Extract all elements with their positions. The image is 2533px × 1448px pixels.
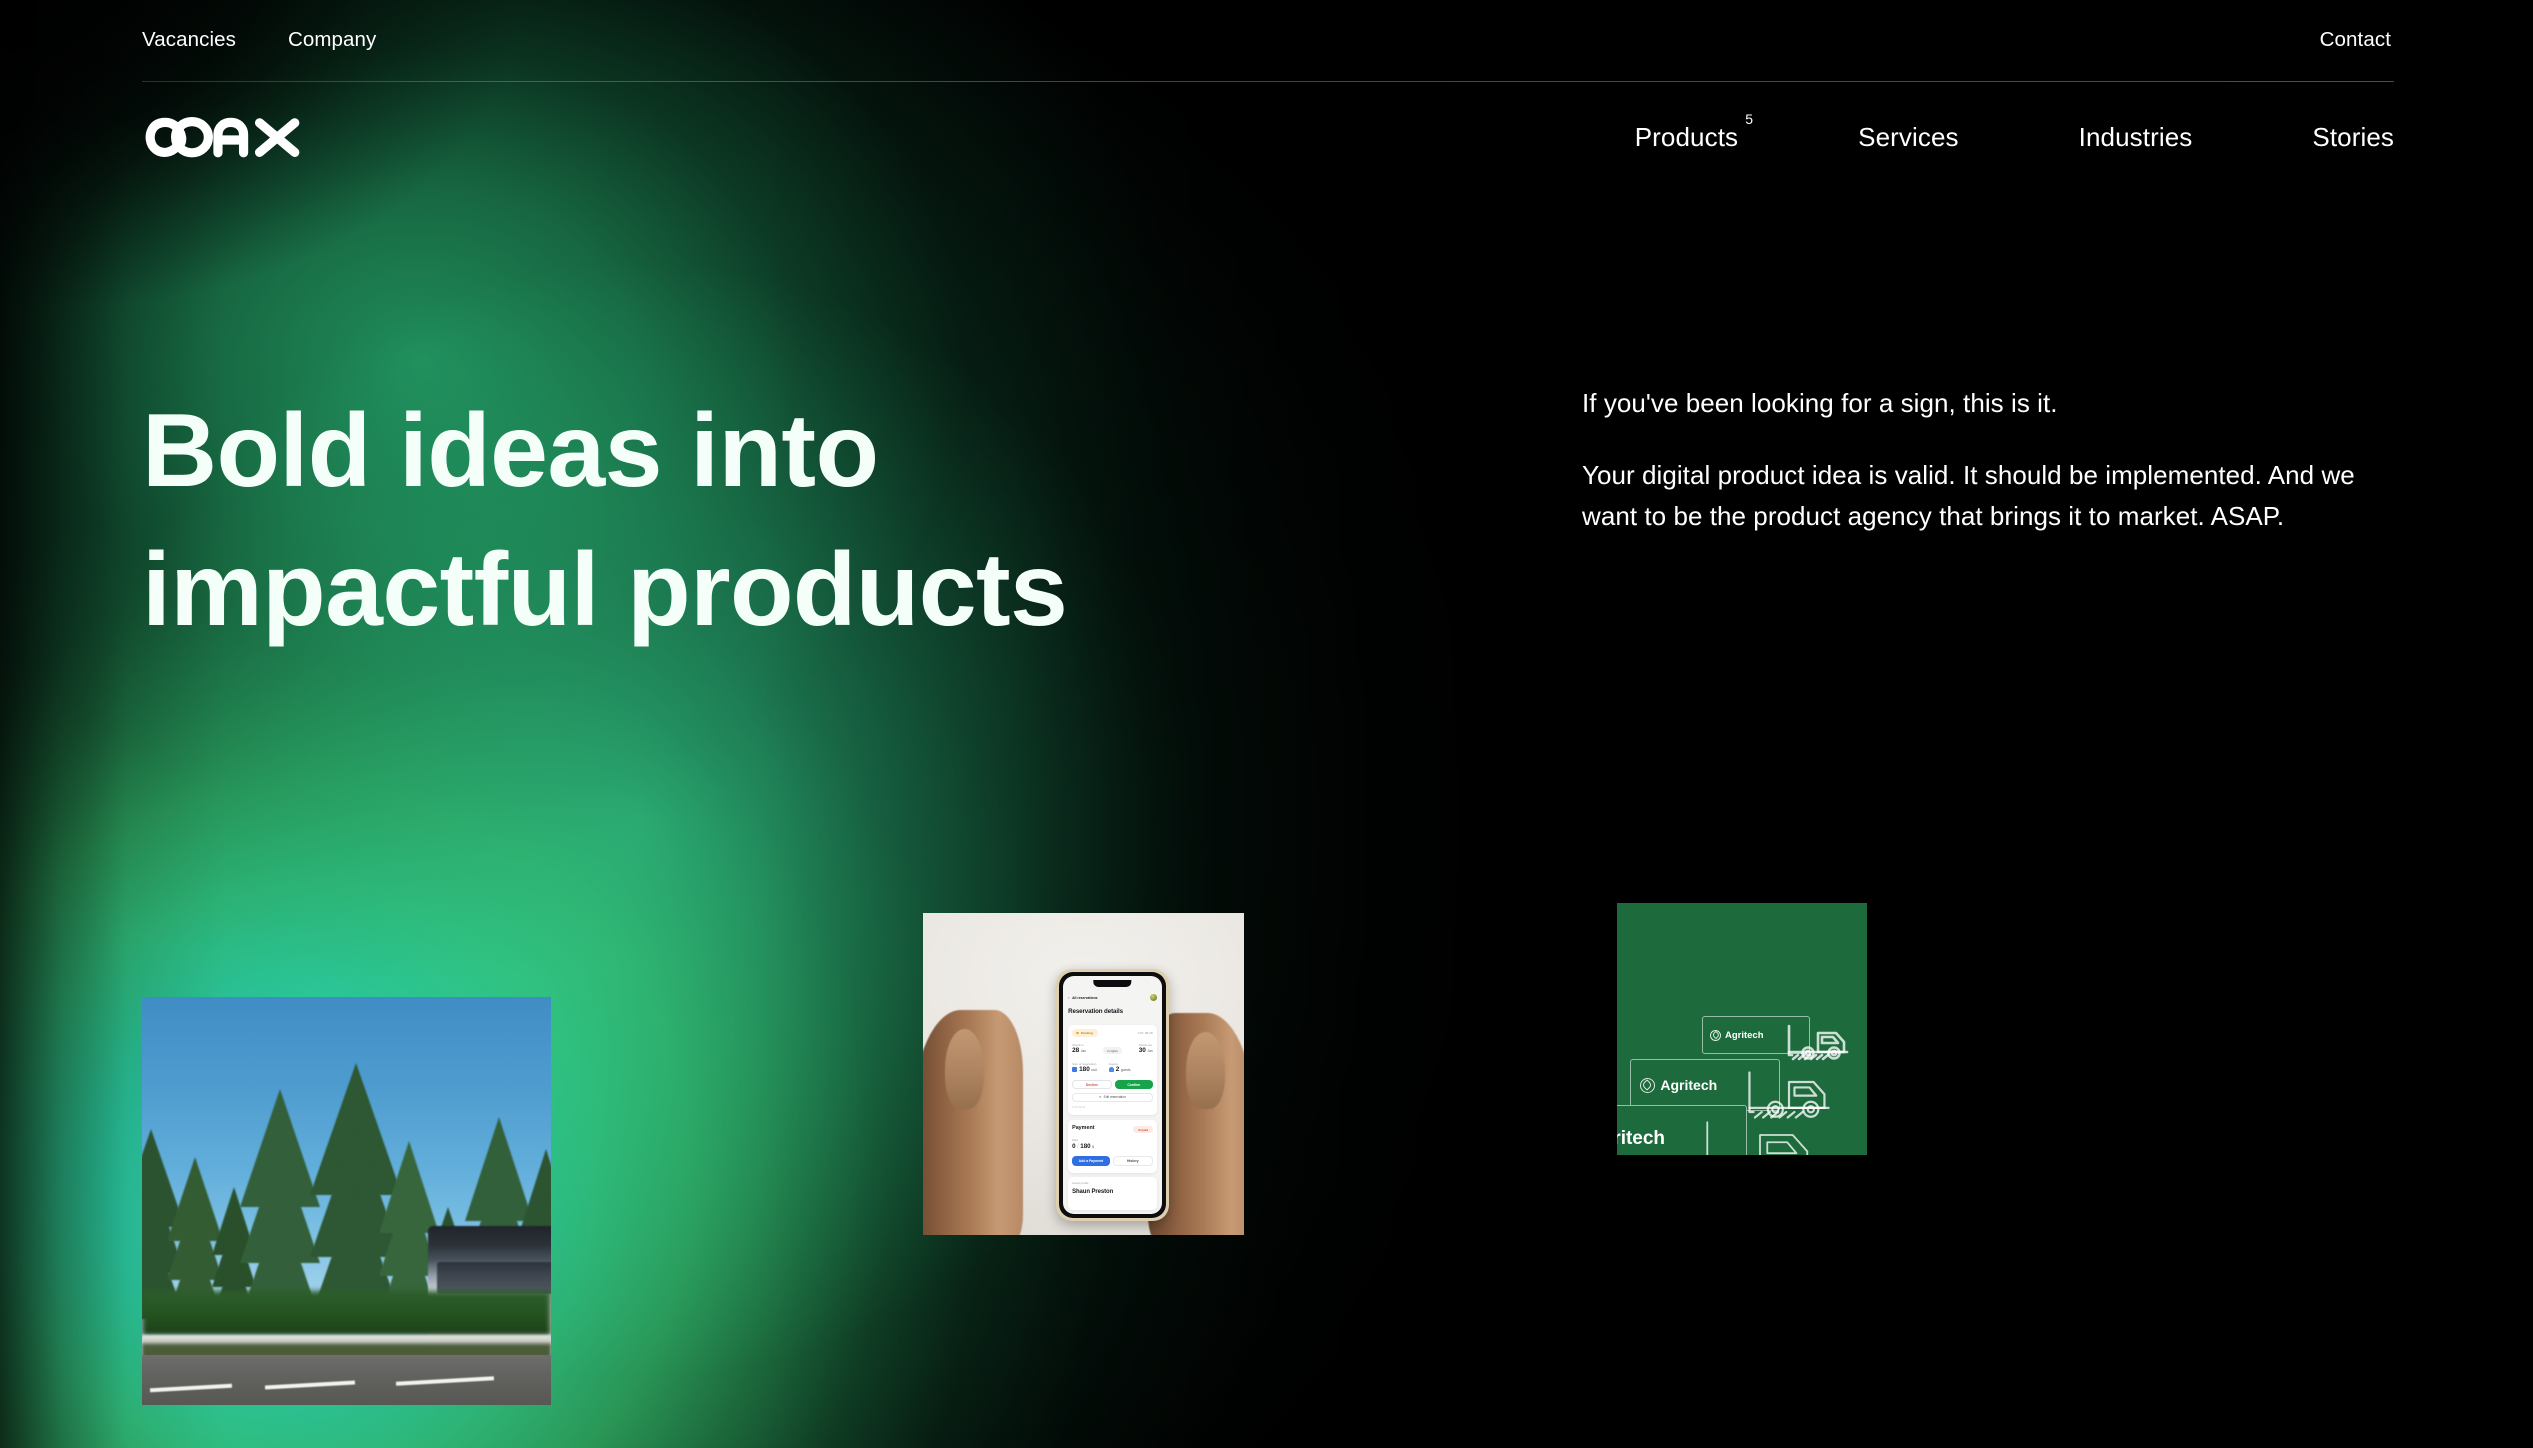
reservation-actions: Decline Confirm	[1072, 1080, 1153, 1090]
history-button[interactable]: History	[1113, 1156, 1153, 1166]
utility-links: Vacancies Company	[142, 30, 376, 51]
hero-paragraph-2: Your digital product idea is valid. It s…	[1582, 455, 2392, 538]
primary-nav-links: Products 5 Services Industries Stories	[1635, 114, 2394, 160]
nav-link-services[interactable]: Services	[1858, 114, 1959, 160]
back-label: All reservations	[1072, 996, 1147, 1000]
leaf-icon	[1710, 1030, 1721, 1041]
phone-screen: ‹ All reservations Reservation details P…	[1063, 976, 1161, 1213]
app-topbar: ‹ All reservations	[1063, 989, 1161, 1006]
nights-badge: 2 nights	[1103, 1047, 1122, 1054]
hero-description: If you've been looking for a sign, this …	[1582, 383, 2392, 538]
page-title: Bold ideas into impactful products	[142, 382, 1392, 661]
sum-field: Sum of reservation 180usd.	[1072, 1062, 1097, 1074]
leaf-icon	[1640, 1078, 1655, 1093]
guest-name: Shaun Preston	[1072, 1189, 1113, 1195]
utility-link-vacancies[interactable]: Vacancies	[142, 30, 236, 51]
paid-currency: $	[1092, 1145, 1094, 1149]
forest-highway-image[interactable]	[142, 997, 551, 1405]
date-row: Check-in 28Jan 2 nights Check-out 30Jan	[1072, 1043, 1153, 1054]
nav-link-products[interactable]: Products 5	[1635, 114, 1738, 160]
add-payment-button[interactable]: Add a Payment	[1072, 1156, 1110, 1166]
right-thumb	[1186, 1032, 1225, 1109]
status-badge: Pending	[1072, 1029, 1098, 1036]
sum-value: 180	[1079, 1066, 1090, 1073]
paid-label: Paid	[1072, 1138, 1078, 1142]
checkin-field: Check-in 28Jan	[1072, 1043, 1086, 1054]
main-navigation: Products 5 Services Industries Stories	[0, 81, 2533, 193]
reservation-timestamp: # 23:42:14	[1072, 1105, 1085, 1109]
nav-link-services-label: Services	[1858, 122, 1959, 152]
app-page-title: Reservation details	[1068, 1008, 1123, 1015]
lane-marking	[396, 1376, 494, 1385]
back-icon[interactable]: ‹	[1068, 995, 1069, 1000]
utility-right: Contact	[2320, 30, 2391, 51]
highway-road	[142, 1355, 551, 1405]
left-thumb	[945, 1029, 984, 1110]
utility-bar: Vacancies Company Contact	[0, 0, 2533, 81]
phone-bezel: ‹ All reservations Reservation details P…	[1059, 972, 1165, 1217]
truck-icon	[1705, 1115, 1815, 1155]
agritech-label-text: Agritech	[1660, 1078, 1717, 1092]
phone-reservation-image[interactable]: ‹ All reservations Reservation details P…	[923, 913, 1244, 1235]
sum-currency: usd.	[1091, 1068, 1097, 1072]
agritech-artwork: Agritech	[1617, 903, 1867, 1155]
checkin-month: Jan	[1081, 1049, 1086, 1053]
coax-logo[interactable]	[142, 114, 310, 160]
summary-row: Sum of reservation 180usd. Guests 2guest…	[1072, 1062, 1153, 1074]
sum-label: Sum of reservation	[1072, 1062, 1097, 1066]
guests-unit: guests	[1121, 1068, 1131, 1072]
checkout-month: Jan	[1147, 1049, 1152, 1053]
paid-total: 180	[1080, 1143, 1090, 1150]
edit-reservation-label: Edit reservation	[1104, 1095, 1126, 1099]
payment-status-badge: Unpaid	[1133, 1126, 1152, 1133]
utility-link-company[interactable]: Company	[288, 30, 376, 51]
utility-link-contact[interactable]: Contact	[2320, 28, 2391, 51]
nav-link-industries[interactable]: Industries	[2079, 114, 2193, 160]
status-dot-icon	[1076, 1032, 1079, 1035]
nav-link-products-label: Products	[1635, 122, 1738, 152]
lane-marking	[265, 1381, 355, 1390]
status-badge-label: Pending	[1081, 1031, 1093, 1035]
phone-device: ‹ All reservations Reservation details P…	[1056, 969, 1168, 1220]
guest-profile-label: Guest profile	[1072, 1181, 1088, 1185]
roadside-shrubs	[142, 1291, 551, 1336]
reservation-id: # ID: 88-28	[1138, 1031, 1153, 1035]
tree	[240, 1089, 320, 1319]
decline-button[interactable]: Decline	[1072, 1080, 1112, 1090]
guests-icon	[1109, 1067, 1114, 1072]
agritech-label-text: Agritech	[1617, 1129, 1665, 1148]
agritech-industry-card[interactable]: Agritech	[1617, 903, 1867, 1155]
nav-link-stories[interactable]: Stories	[2312, 114, 2394, 160]
hero-paragraph-1: If you've been looking for a sign, this …	[1582, 383, 2392, 425]
checkout-value: 30	[1139, 1047, 1146, 1054]
guests-label: Guests	[1109, 1062, 1131, 1066]
edit-reservation-button[interactable]: ✎ Edit reservation	[1072, 1093, 1153, 1102]
checkout-field: Check-out 30Jan	[1139, 1043, 1153, 1054]
reservation-card: Pending # ID: 88-28 Check-in 28Jan 2 nig…	[1068, 1025, 1158, 1115]
nav-link-products-count: 5	[1745, 112, 1753, 126]
payment-actions: Add a Payment History	[1072, 1156, 1153, 1166]
nav-link-industries-label: Industries	[2079, 122, 2193, 152]
truck-icon	[1788, 1022, 1848, 1066]
payment-title: Payment	[1072, 1125, 1094, 1131]
guests-value: 2	[1116, 1066, 1120, 1073]
payment-card: Payment Unpaid Paid 0/180$ Add a Payment…	[1068, 1120, 1158, 1173]
paid-value: 0	[1072, 1143, 1075, 1150]
phone-notch	[1094, 980, 1131, 988]
pencil-icon: ✎	[1099, 1095, 1102, 1099]
money-icon	[1072, 1067, 1077, 1072]
page-root: Vacancies Company Contact	[0, 0, 2533, 1448]
confirm-button[interactable]: Confirm	[1115, 1080, 1153, 1090]
guests-field: Guests 2guests	[1109, 1062, 1131, 1074]
avatar[interactable]	[1150, 994, 1157, 1001]
coax-logo-icon	[142, 114, 310, 160]
agritech-label-text: Agritech	[1725, 1031, 1764, 1041]
lane-marking	[150, 1384, 232, 1393]
checkin-value: 28	[1072, 1047, 1079, 1054]
nav-link-stories-label: Stories	[2312, 122, 2394, 152]
guest-card: Guest profile Shaun Preston	[1068, 1177, 1158, 1210]
paid-amount: 0/180$	[1072, 1143, 1094, 1150]
